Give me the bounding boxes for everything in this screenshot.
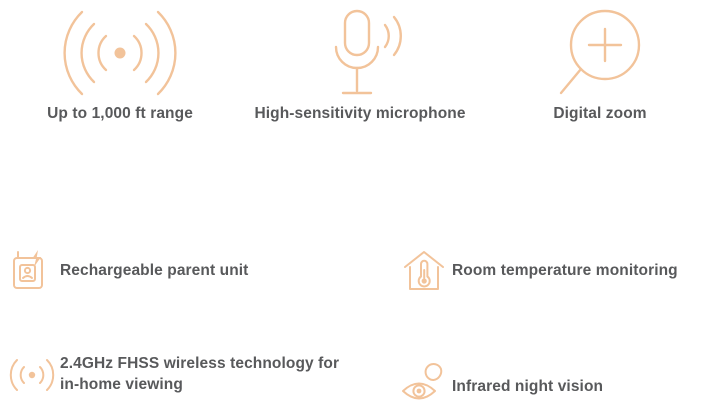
feature-grid-page: Up to 1,000 ft range High-sensitivity mi… [0, 0, 720, 410]
feature-fhss-wireless-label: 2.4GHz FHSS wireless technology for in-h… [60, 354, 339, 396]
feature-night-vision: Infrared night vision [396, 362, 720, 412]
feature-microphone-label: High-sensitivity microphone [254, 105, 465, 124]
feature-fhss-line1: 2.4GHz FHSS wireless technology for [60, 355, 339, 372]
feature-digital-zoom-label: Digital zoom [553, 105, 646, 124]
feature-room-temperature-label: Room temperature monitoring [452, 261, 678, 282]
feature-fhss-wireless: 2.4GHz FHSS wireless technology for in-h… [4, 350, 389, 400]
feature-night-vision-label: Infrared night vision [452, 377, 603, 398]
feature-microphone: High-sensitivity microphone [240, 0, 480, 160]
eye-moon-icon [396, 362, 452, 412]
feature-rechargeable-parent-unit-label: Rechargeable parent unit [60, 261, 248, 282]
feature-room-temperature: Room temperature monitoring [396, 246, 720, 296]
microphone-icon [295, 0, 425, 105]
feature-rechargeable-parent-unit: Rechargeable parent unit [4, 246, 344, 296]
feature-digital-zoom: Digital zoom [480, 0, 720, 160]
wireless-antenna-icon [4, 350, 60, 400]
house-thermometer-icon [396, 246, 452, 296]
signal-waves-icon [55, 0, 185, 105]
feature-fhss-line2: in-home viewing [60, 376, 183, 393]
top-feature-row: Up to 1,000 ft range High-sensitivity mi… [0, 0, 720, 160]
feature-range: Up to 1,000 ft range [0, 0, 240, 160]
magnifier-plus-icon [535, 0, 665, 105]
feature-range-label: Up to 1,000 ft range [47, 105, 193, 124]
parent-unit-battery-icon [4, 246, 60, 296]
